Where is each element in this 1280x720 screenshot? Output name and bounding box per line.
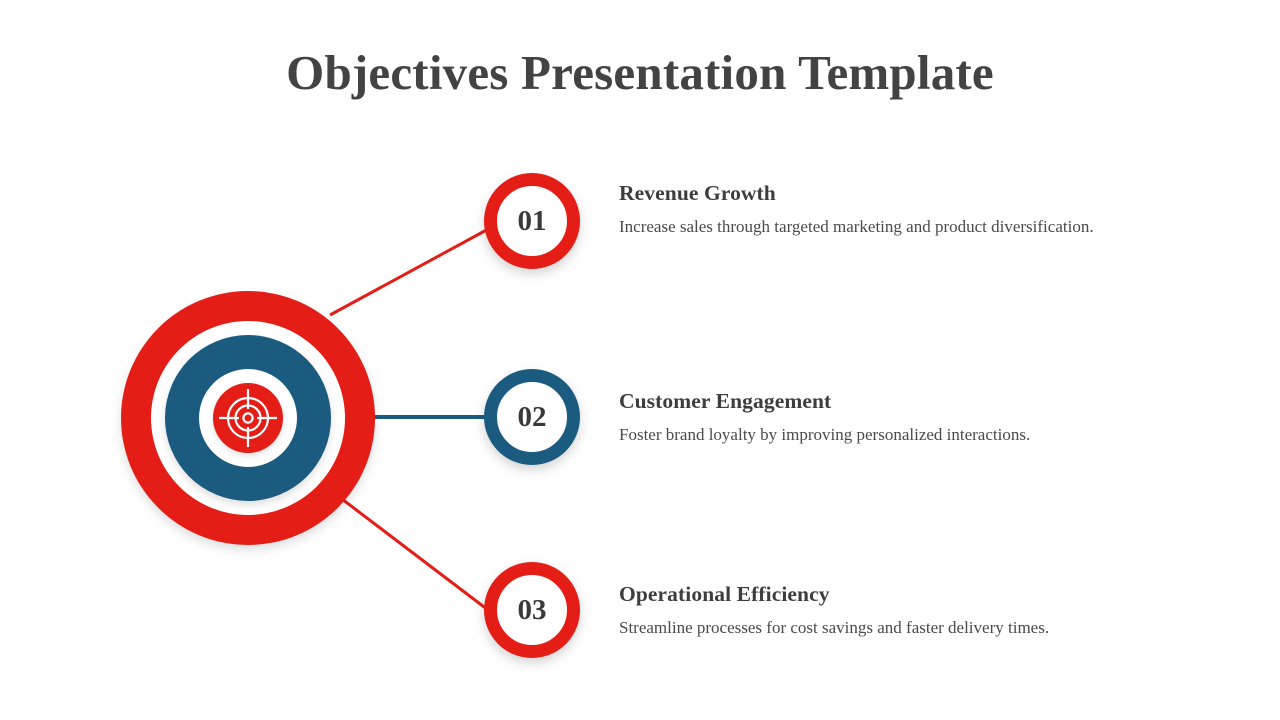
step-text-block-02: Customer Engagement Foster brand loyalty… [619, 389, 1199, 446]
step-title: Customer Engagement [619, 389, 1199, 414]
step-description: Increase sales through targeted marketin… [619, 215, 1109, 238]
slide-canvas: Objectives Presentation Template [0, 0, 1280, 720]
crosshair-target-icon [213, 383, 283, 453]
step-title: Revenue Growth [619, 181, 1199, 206]
step-text-block-01: Revenue Growth Increase sales through ta… [619, 181, 1199, 238]
step-number-label: 02 [518, 403, 547, 432]
step-circle-03[interactable]: 03 [484, 562, 580, 658]
step-text-block-03: Operational Efficiency Streamline proces… [619, 582, 1199, 639]
objectives-diagram: 01 02 03 Revenue Growth Increase sales t… [0, 0, 1280, 720]
step-title: Operational Efficiency [619, 582, 1199, 607]
step-description: Foster brand loyalty by improving person… [619, 423, 1199, 446]
step-number-label: 03 [518, 596, 547, 625]
step-circle-01[interactable]: 01 [484, 173, 580, 269]
step-number-label: 01 [518, 207, 547, 236]
step-circle-02[interactable]: 02 [484, 369, 580, 465]
step-description: Streamline processes for cost savings an… [619, 616, 1199, 639]
